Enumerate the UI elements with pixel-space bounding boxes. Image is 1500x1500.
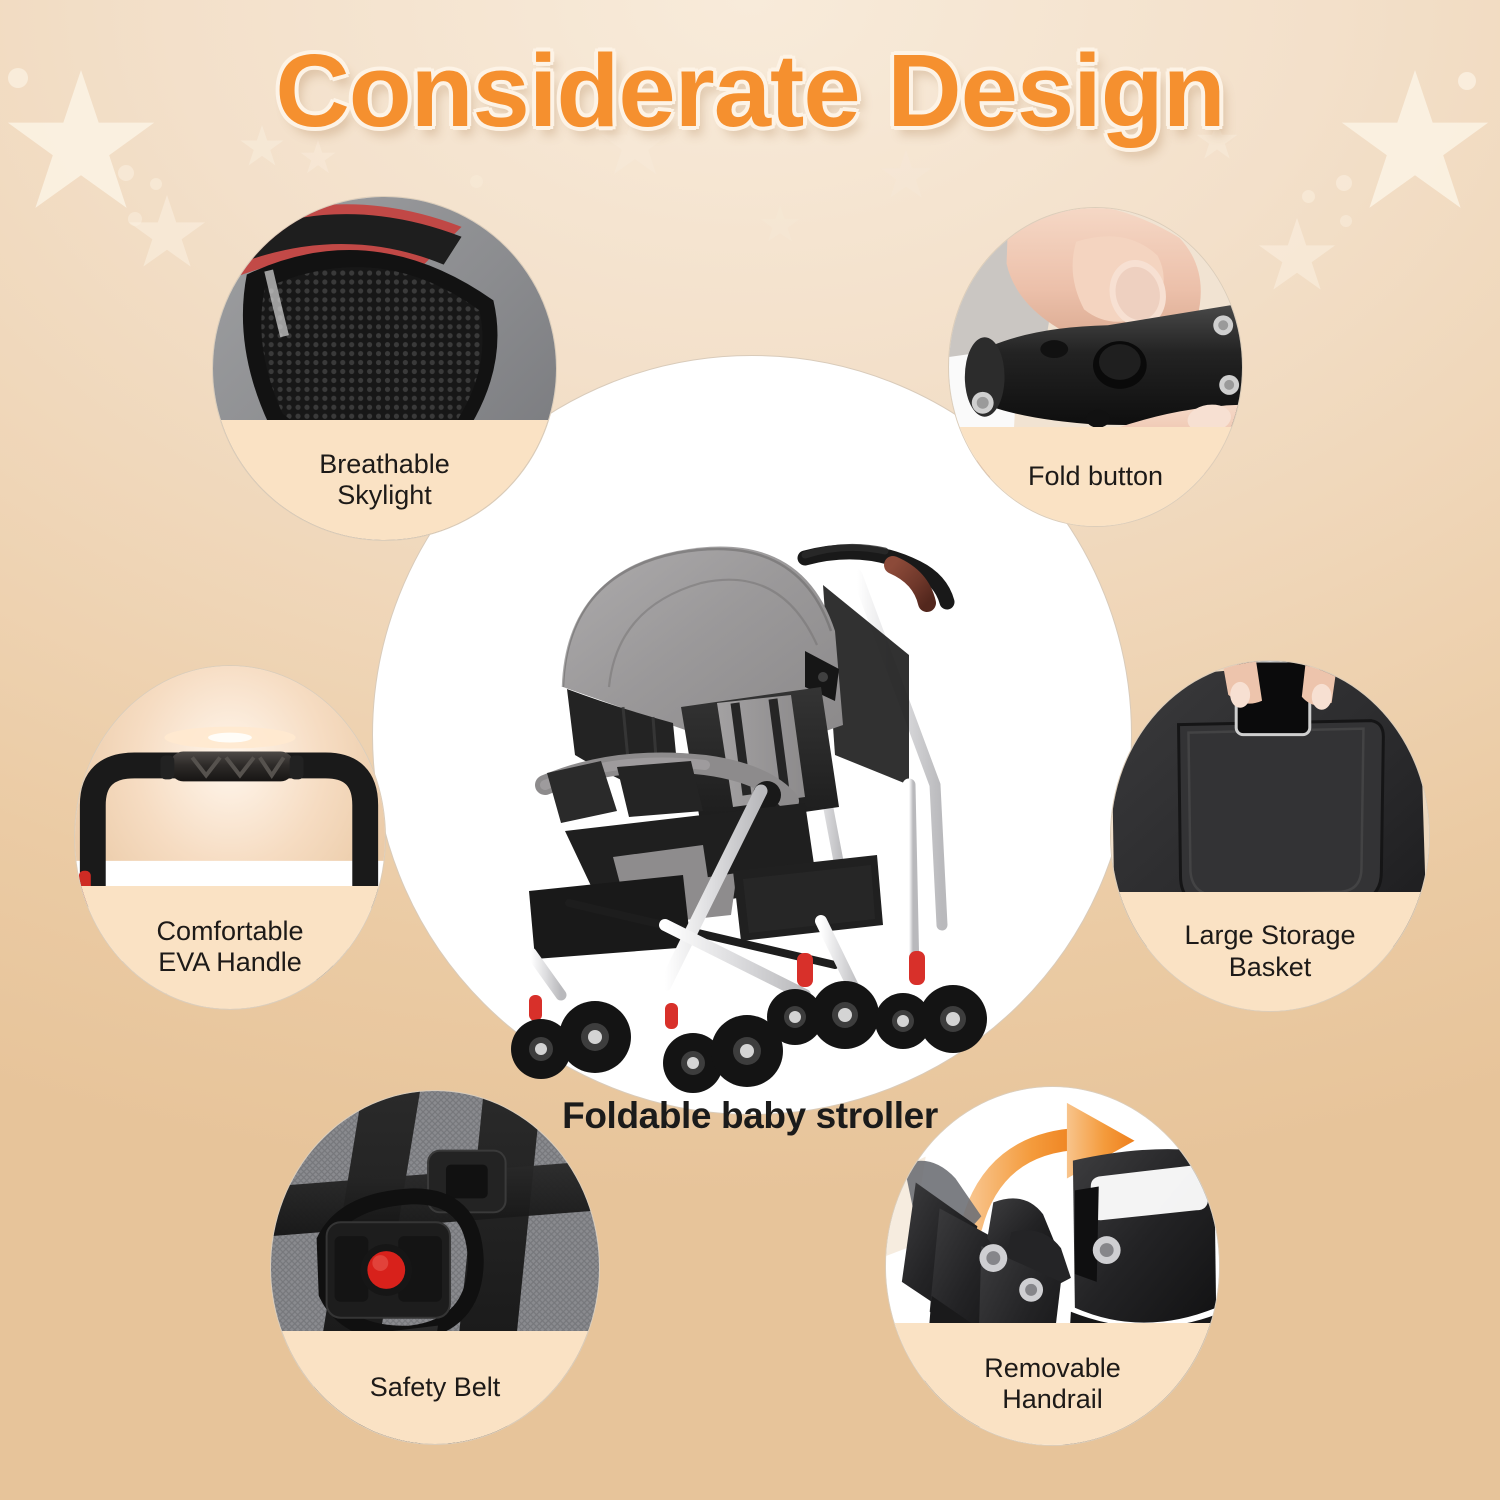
feature-label-line2: Basket	[1229, 952, 1312, 982]
feature-label-skylight: Breathable Skylight	[213, 420, 556, 540]
feature-label-safety-belt: Safety Belt	[271, 1331, 599, 1444]
feature-label-eva-handle: Comfortable EVA Handle	[75, 886, 385, 1009]
feature-bubble-storage-basket[interactable]: Large Storage Basket	[1110, 660, 1430, 1012]
feature-label-removable-handrail: Removable Handrail	[886, 1323, 1219, 1445]
dot-icon	[118, 165, 134, 181]
stroller-product-image	[505, 455, 1025, 1095]
dot-icon	[150, 178, 162, 190]
star-icon	[1258, 218, 1336, 296]
star-icon	[880, 150, 932, 202]
product-caption: Foldable baby stroller	[0, 1095, 1500, 1137]
feature-bubble-eva-handle[interactable]: Comfortable EVA Handle	[74, 665, 386, 1010]
feature-label-line1: Fold button	[1028, 461, 1163, 492]
feature-label-line1: Safety Belt	[370, 1372, 501, 1403]
star-icon	[128, 195, 206, 273]
feature-bubble-safety-belt[interactable]: Safety Belt	[270, 1090, 600, 1445]
product-infographic-poster: Considerate Design	[0, 0, 1500, 1500]
feature-label-line1: Breathable	[319, 449, 450, 479]
feature-label-line1: Comfortable	[156, 916, 303, 946]
dot-icon	[1336, 175, 1352, 191]
star-icon	[760, 205, 800, 245]
feature-label-line2: Handrail	[1002, 1384, 1103, 1414]
dot-icon	[1302, 190, 1315, 203]
feature-label-line2: Skylight	[337, 480, 432, 510]
feature-label-fold-button: Fold button	[949, 427, 1242, 526]
feature-label-line1: Removable	[984, 1353, 1121, 1383]
dot-icon	[470, 175, 483, 188]
page-title: Considerate Design	[0, 32, 1500, 150]
feature-label-line2: EVA Handle	[158, 947, 302, 977]
dot-icon	[1340, 215, 1352, 227]
feature-bubble-removable-handrail[interactable]: Removable Handrail	[885, 1086, 1220, 1446]
feature-bubble-fold-button[interactable]: Fold button	[948, 207, 1243, 527]
feature-bubble-skylight[interactable]: Breathable Skylight	[212, 196, 557, 541]
feature-label-line1: Large Storage	[1184, 920, 1355, 950]
dot-icon	[128, 212, 142, 226]
feature-label-storage-basket: Large Storage Basket	[1111, 892, 1429, 1011]
